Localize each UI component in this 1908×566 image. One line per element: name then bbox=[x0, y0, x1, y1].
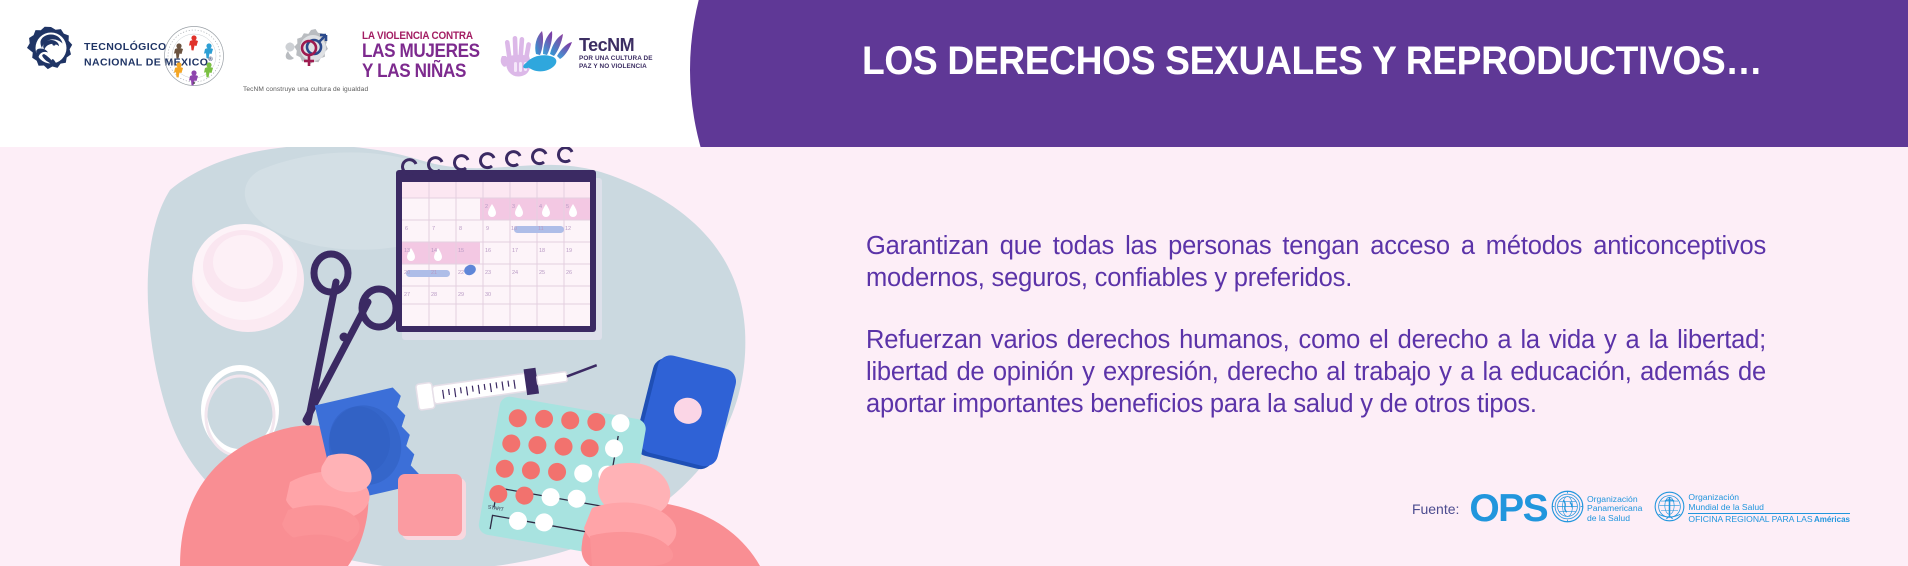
paz-brand: TecNM bbox=[579, 36, 653, 55]
paho-line-3: de la Salud bbox=[1587, 514, 1642, 524]
paz-sub-1: POR UNA CULTURA DE bbox=[579, 55, 653, 63]
tecnm-eagle-gear-icon bbox=[26, 26, 76, 85]
paragraph-2: Refuerzan varios derechos humanos, como … bbox=[866, 324, 1766, 420]
svg-text:29: 29 bbox=[458, 292, 464, 298]
violencia-wordmark: LA VIOLENCIA CONTRA LAS MUJERES Y LAS NI… bbox=[362, 30, 493, 82]
logo-row: TECNOLÓGICO NACIONAL DE MÉXICO® bbox=[0, 0, 760, 120]
svg-text:26: 26 bbox=[566, 270, 572, 276]
svg-text:10: 10 bbox=[511, 226, 517, 232]
source-label: Fuente: bbox=[1412, 501, 1459, 517]
svg-text:2: 2 bbox=[485, 204, 488, 210]
paho-globe-icon bbox=[1551, 490, 1584, 528]
who-region-prefix: OFICINA REGIONAL PARA LAS bbox=[1688, 514, 1812, 524]
svg-text:18: 18 bbox=[539, 248, 545, 254]
body-copy: Garantizan que todas las personas tengan… bbox=[866, 230, 1766, 420]
svg-text:25: 25 bbox=[539, 270, 545, 276]
svg-text:9: 9 bbox=[486, 226, 489, 232]
who-emblem-icon bbox=[1654, 491, 1685, 527]
violencia-line-3: Y LAS NIÑAS bbox=[362, 62, 480, 82]
logo-violencia-contra-mujeres: LA VIOLENCIA CONTRA LAS MUJERES Y LAS NI… bbox=[362, 28, 536, 83]
svg-text:21: 21 bbox=[431, 270, 437, 276]
gender-symbols-gear-icon bbox=[275, 22, 337, 83]
paz-wordmark: TecNM POR UNA CULTURA DE PAZ Y NO VIOLEN… bbox=[579, 36, 653, 71]
paho-logo: Organización Panamericana de la Salud bbox=[1551, 490, 1642, 528]
svg-text:12: 12 bbox=[565, 226, 571, 232]
svg-text:23: 23 bbox=[485, 270, 491, 276]
ops-wordmark: OPS bbox=[1469, 491, 1547, 527]
who-region-word: Américas bbox=[1814, 515, 1850, 524]
svg-text:30: 30 bbox=[485, 292, 491, 298]
logo-equality-seal bbox=[163, 25, 225, 92]
who-line-2: Mundial de la Salud bbox=[1688, 503, 1850, 513]
svg-text:19: 19 bbox=[566, 248, 572, 254]
svg-text:27: 27 bbox=[404, 292, 410, 298]
svg-text:14: 14 bbox=[431, 248, 437, 254]
svg-text:24: 24 bbox=[512, 270, 518, 276]
tecnm-line-1: TECNOLÓGICO bbox=[84, 41, 167, 53]
who-logo: Organización Mundial de la Salud OFICINA… bbox=[1654, 491, 1850, 527]
svg-text:28: 28 bbox=[431, 292, 437, 298]
paragraph-1: Garantizan que todas las personas tengan… bbox=[866, 230, 1766, 294]
svg-text:8: 8 bbox=[459, 226, 462, 232]
logo-cultura-de-igualdad: TecNM construye una cultura de igualdad bbox=[243, 22, 368, 93]
pink-square-pad bbox=[398, 474, 462, 536]
svg-text:3: 3 bbox=[512, 204, 515, 210]
source-credit: Fuente: OPS bbox=[1412, 490, 1850, 528]
svg-text:20: 20 bbox=[404, 270, 410, 276]
page-title: LOS DERECHOS SEXUALES Y REPRODUCTIVOS… bbox=[862, 39, 1801, 84]
header-band: LOS DERECHOS SEXUALES Y REPRODUCTIVOS… bbox=[0, 0, 1908, 147]
paz-sub-2: PAZ Y NO VIOLENCIA bbox=[579, 63, 653, 71]
violencia-line-2: LAS MUJERES bbox=[362, 42, 480, 62]
svg-text:16: 16 bbox=[485, 248, 491, 254]
paho-text: Organización Panamericana de la Salud bbox=[1587, 495, 1642, 524]
contraception-flatlay-illustration: 23 45 67 89 1011 12 1314 1516 1718 19 20… bbox=[140, 130, 760, 566]
svg-text:7: 7 bbox=[432, 226, 435, 232]
equality-seal-icon bbox=[163, 25, 225, 92]
svg-text:4: 4 bbox=[539, 204, 542, 210]
svg-text:17: 17 bbox=[512, 248, 518, 254]
svg-text:13: 13 bbox=[404, 248, 410, 254]
who-text: Organización Mundial de la Salud OFICINA… bbox=[1688, 493, 1850, 524]
logo-paz-y-no-violencia: TecNM POR UNA CULTURA DE PAZ Y NO VIOLEN… bbox=[522, 26, 653, 81]
igualdad-caption: TecNM construye una cultura de igualdad bbox=[243, 86, 368, 93]
svg-text:11: 11 bbox=[538, 226, 544, 232]
svg-text:15: 15 bbox=[458, 248, 464, 254]
slide-root: 23 45 67 89 1011 12 1314 1516 1718 19 20… bbox=[0, 0, 1908, 566]
svg-text:5: 5 bbox=[566, 204, 569, 210]
svg-text:22: 22 bbox=[458, 270, 464, 276]
svg-text:6: 6 bbox=[405, 226, 408, 232]
who-region-line: OFICINA REGIONAL PARA LAS Américas bbox=[1688, 513, 1850, 525]
menstrual-calendar: 23 45 67 89 1011 12 1314 1516 1718 19 20… bbox=[396, 148, 602, 340]
dove-hand-icon bbox=[522, 26, 574, 81]
